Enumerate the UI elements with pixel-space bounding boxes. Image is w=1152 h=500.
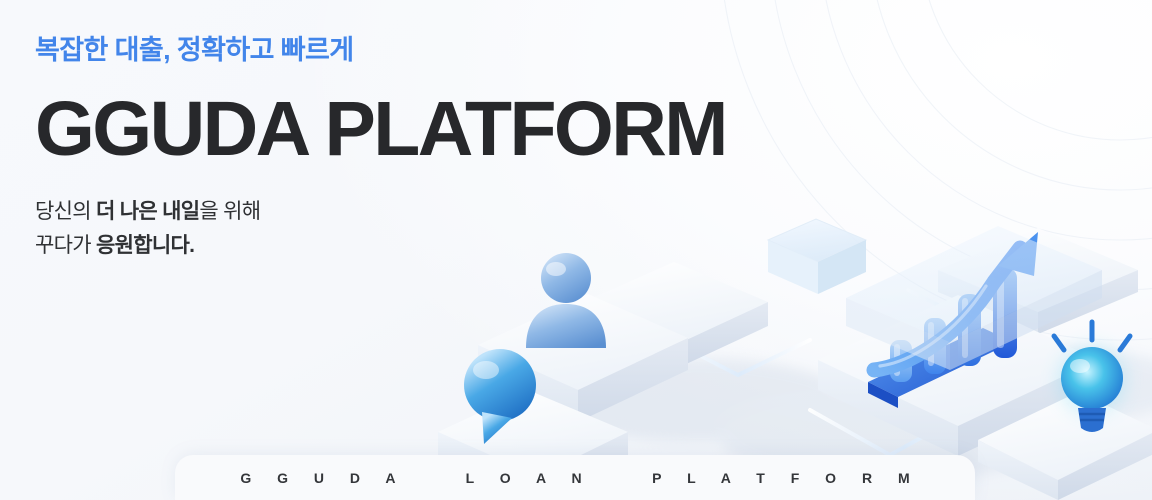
subtitle-line1-highlight: 더 나은 내일 [96,200,199,223]
subtitle-line2-prefix: 꾸다가 [35,234,96,257]
hero-copy-block: 복잡한 대출, 정확하고 빠르게 GGUDA PLATFORM 당신의 더 나은… [35,34,726,263]
bottom-banner: G G U D A L O A N P L A T F O R M [175,455,975,500]
subtitle-line1-prefix: 당신의 [35,200,96,223]
hero-subtitle: 당신의 더 나은 내일을 위해 꾸다가 응원합니다. [35,195,726,263]
banner-label: G G U D A L O A N P L A T F O R M [229,470,920,486]
hero-eyebrow: 복잡한 대출, 정확하고 빠르게 [35,34,726,68]
subtitle-line2-highlight: 응원합니다. [96,234,194,257]
hero-banner: 복잡한 대출, 정확하고 빠르게 GGUDA PLATFORM 당신의 더 나은… [0,0,1152,500]
page-title: GGUDA PLATFORM [35,90,726,169]
subtitle-line1-suffix: 을 위해 [199,200,260,223]
glass-cube [768,219,866,294]
